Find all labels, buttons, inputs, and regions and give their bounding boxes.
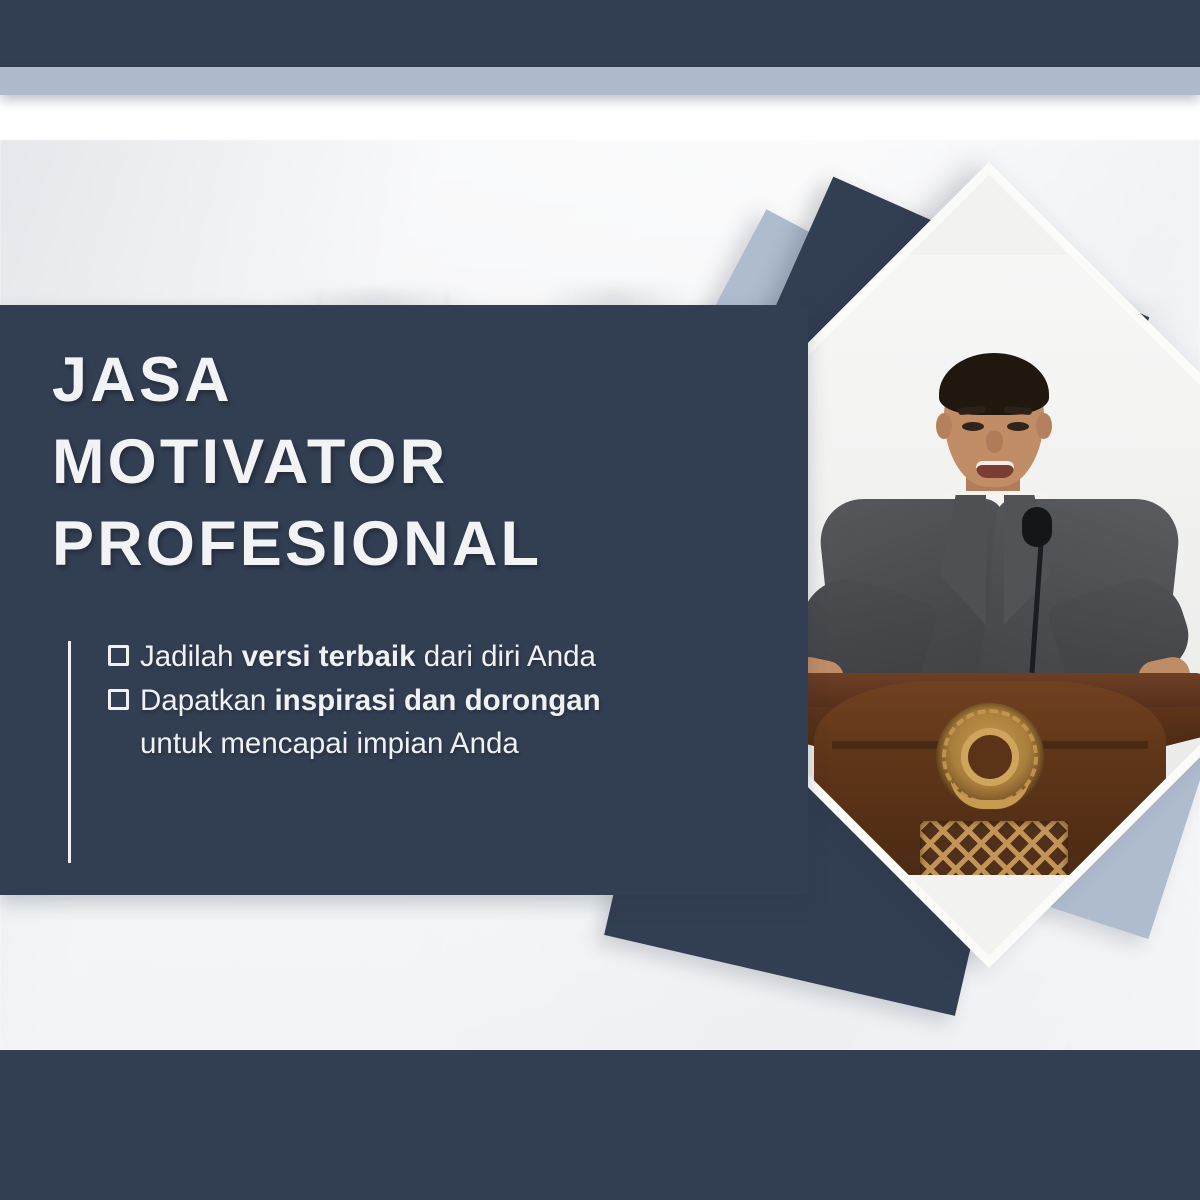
headline-line-3: PROFESIONAL: [52, 504, 542, 586]
checkbox-icon: [108, 645, 129, 666]
speaker-hair: [939, 353, 1049, 415]
headline-line-1: JASA: [52, 340, 542, 422]
speaker-mouth: [976, 461, 1014, 478]
benefits-list: Jadilah versi terbaik dari diri Anda Dap…: [108, 636, 608, 767]
list-item: Jadilah versi terbaik dari diri Anda: [108, 636, 608, 678]
bullet-1-suffix: dari diri Anda: [416, 640, 596, 673]
top-accent-bar: [0, 67, 1200, 95]
bullet-1-prefix: Jadilah: [140, 640, 242, 673]
bullet-accent-rule: [68, 641, 71, 863]
headline-line-2: MOTIVATOR: [52, 422, 542, 504]
podium-lattice-panel: [920, 821, 1068, 875]
bullet-2-bold: inspirasi dan dorongan: [274, 684, 600, 717]
bullet-2-prefix: Dapatkan: [140, 684, 274, 717]
bullet-1-bold: versi terbaik: [242, 640, 416, 673]
list-item-text: Dapatkan inspirasi dan dorongan untuk me…: [140, 680, 608, 765]
speaker-nose: [986, 431, 1003, 453]
speaker-eye-left: [962, 422, 984, 431]
bullet-2-suffix: untuk mencapai impian Anda: [140, 727, 519, 760]
speaker-ear-left: [936, 413, 952, 439]
footer-bar: www.jasamotivator.com 0838-4385-6102: [0, 1050, 1200, 1200]
checkbox-icon: [108, 689, 129, 710]
top-navy-bar: [0, 0, 1200, 67]
list-item-text: Jadilah versi terbaik dari diri Anda: [140, 636, 608, 678]
speaker-ear-right: [1036, 413, 1052, 439]
page-title: JASA MOTIVATOR PROFESIONAL: [52, 340, 542, 586]
poster-canvas: JASA MOTIVATOR PROFESIONAL Jadilah versi…: [0, 0, 1200, 1200]
speaker-eye-right: [1007, 422, 1029, 431]
list-item: Dapatkan inspirasi dan dorongan untuk me…: [108, 680, 608, 765]
microphone-icon: [1022, 507, 1052, 547]
